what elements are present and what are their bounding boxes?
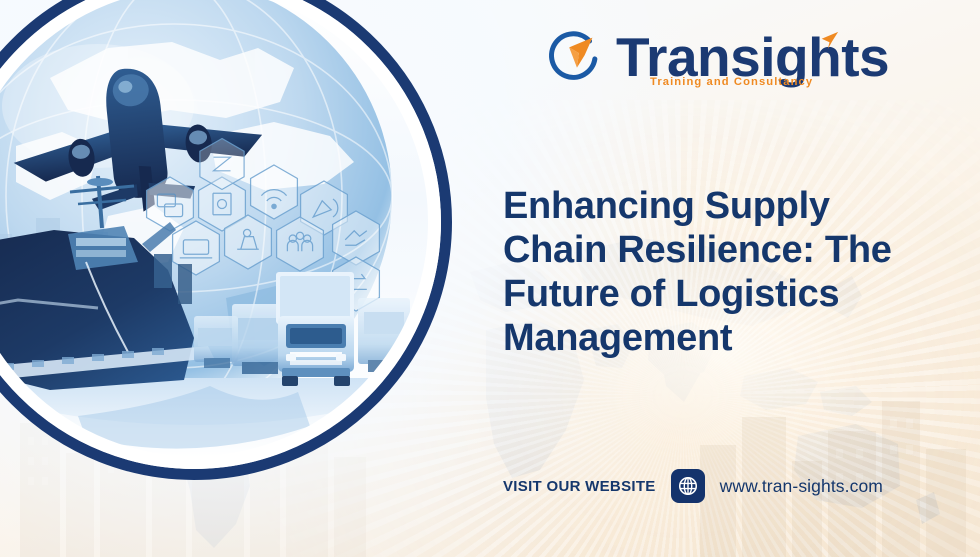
website-row: VISIT OUR WEBSITE www.tran-sights.com (503, 469, 883, 503)
promo-banner: Transights Training and Consultancy Enha… (0, 0, 980, 557)
circular-arrow-paper-plane-icon (544, 26, 606, 88)
visit-website-label: VISIT OUR WEBSITE (503, 478, 656, 495)
brand-logo[interactable]: Transights Training and Consultancy (544, 26, 889, 88)
hero-circle (0, 0, 452, 480)
page-title: Enhancing Supply Chain Resilience: The F… (503, 185, 923, 360)
globe-icon (671, 469, 705, 503)
orange-arrow-dot-icon (819, 31, 840, 50)
brand-tagline: Training and Consultancy (650, 76, 813, 88)
website-url-link[interactable]: www.tran-sights.com (720, 476, 883, 497)
